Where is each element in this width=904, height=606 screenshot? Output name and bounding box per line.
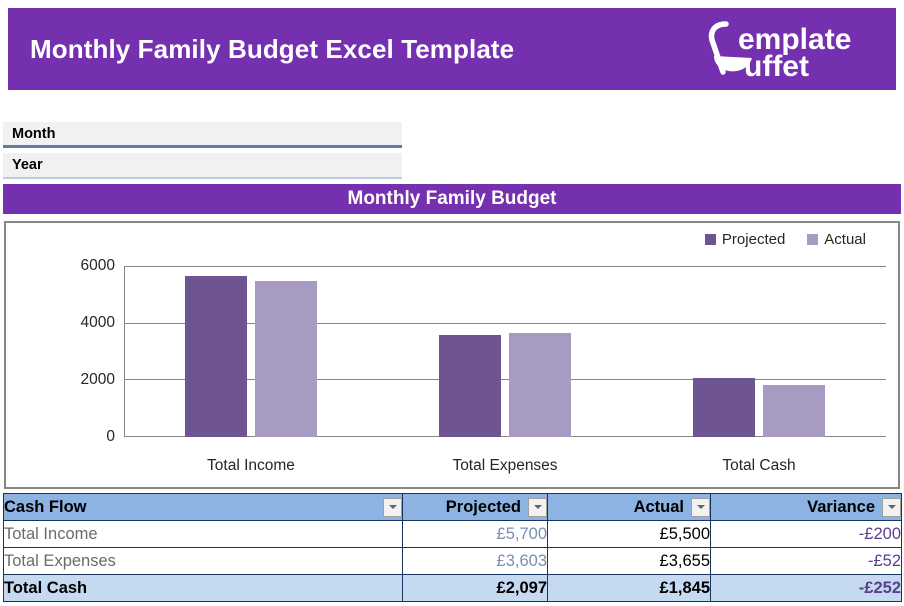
column-header-proj[interactable]: Projected [403, 494, 548, 521]
chevron-down-icon [534, 505, 542, 509]
filter-dropdown-button-proj[interactable] [528, 498, 547, 517]
bar-pair [378, 267, 632, 437]
cell-var[interactable]: -£52 [711, 548, 902, 575]
cell-proj[interactable]: £3,603 [403, 548, 548, 575]
bar-group: Total Income [124, 267, 378, 437]
legend-swatch-icon [807, 234, 818, 245]
table-header-row: Cash FlowProjectedActualVariance [4, 494, 902, 521]
cash-flow-table: Cash FlowProjectedActualVariance Total I… [3, 493, 902, 602]
cell-name[interactable]: Total Cash [4, 575, 403, 602]
chart-legend: ProjectedActual [705, 231, 866, 248]
cell-var[interactable]: -£252 [711, 575, 902, 602]
column-header-label: Projected [446, 498, 521, 517]
year-label: Year [12, 157, 43, 173]
filter-dropdown-button-name[interactable] [383, 498, 402, 517]
column-header-act[interactable]: Actual [548, 494, 711, 521]
table-row[interactable]: Total Cash£2,097£1,845-£252 [4, 575, 902, 602]
legend-item-actual: Actual [807, 231, 866, 248]
column-header-label: Variance [807, 498, 875, 517]
x-axis-category-label: Total Income [124, 457, 378, 475]
y-axis-tick-label: 6000 [81, 257, 115, 275]
month-label: Month [12, 126, 55, 142]
bar-group: Total Expenses [378, 267, 632, 437]
bar-groups: Total IncomeTotal ExpensesTotal Cash [124, 267, 886, 437]
column-header-label: Cash Flow [4, 498, 87, 517]
legend-label: Actual [824, 231, 866, 248]
legend-item-projected: Projected [705, 231, 785, 248]
table-row[interactable]: Total Expenses£3,603£3,655-£52 [4, 548, 902, 575]
cell-act[interactable]: £5,500 [548, 521, 711, 548]
bar-projected[interactable] [693, 378, 755, 437]
logo-line2-text: uffet [744, 50, 809, 82]
page-title: Monthly Family Budget Excel Template [30, 34, 514, 65]
page-header-banner: Monthly Family Budget Excel Template emp… [8, 8, 896, 90]
templatebuffet-logo: emplate uffet [700, 16, 878, 82]
table-row[interactable]: Total Income£5,700£5,500-£200 [4, 521, 902, 548]
cell-proj[interactable]: £2,097 [403, 575, 548, 602]
y-axis-tick-label: 4000 [81, 314, 115, 332]
legend-label: Projected [722, 231, 785, 248]
month-field[interactable]: Month [3, 122, 402, 148]
legend-swatch-icon [705, 234, 716, 245]
year-field[interactable]: Year [3, 153, 402, 179]
chevron-down-icon [697, 505, 705, 509]
cell-act[interactable]: £1,845 [548, 575, 711, 602]
cell-act[interactable]: £3,655 [548, 548, 711, 575]
bar-actual[interactable] [509, 333, 571, 437]
x-axis-category-label: Total Expenses [378, 457, 632, 475]
bar-projected[interactable] [439, 335, 501, 437]
y-axis-tick-label: 0 [106, 428, 115, 446]
bar-projected[interactable] [185, 276, 247, 438]
chevron-down-icon [888, 505, 896, 509]
bar-pair [632, 267, 886, 437]
filter-dropdown-button-var[interactable] [882, 498, 901, 517]
bar-actual[interactable] [255, 281, 317, 437]
cell-name[interactable]: Total Expenses [4, 548, 403, 575]
cell-var[interactable]: -£200 [711, 521, 902, 548]
cell-name[interactable]: Total Income [4, 521, 403, 548]
bar-actual[interactable] [763, 385, 825, 437]
section-title: Monthly Family Budget [348, 188, 557, 210]
section-title-bar: Monthly Family Budget [3, 184, 901, 214]
budget-bar-chart[interactable]: ProjectedActual 0200040006000 Total Inco… [4, 221, 900, 489]
column-header-label: Actual [634, 498, 684, 517]
chart-plot-area: 0200040006000 Total IncomeTotal Expenses… [124, 267, 886, 437]
cell-proj[interactable]: £5,700 [403, 521, 548, 548]
banner-spacer [0, 90, 904, 122]
table-body: Total Income£5,700£5,500-£200Total Expen… [4, 521, 902, 602]
chevron-down-icon [389, 505, 397, 509]
filter-dropdown-button-act[interactable] [691, 498, 710, 517]
bar-group: Total Cash [632, 267, 886, 437]
bar-pair [124, 267, 378, 437]
x-axis-category-label: Total Cash [632, 457, 886, 475]
column-header-var[interactable]: Variance [711, 494, 902, 521]
y-axis-tick-label: 2000 [81, 371, 115, 389]
column-header-name[interactable]: Cash Flow [4, 494, 403, 521]
